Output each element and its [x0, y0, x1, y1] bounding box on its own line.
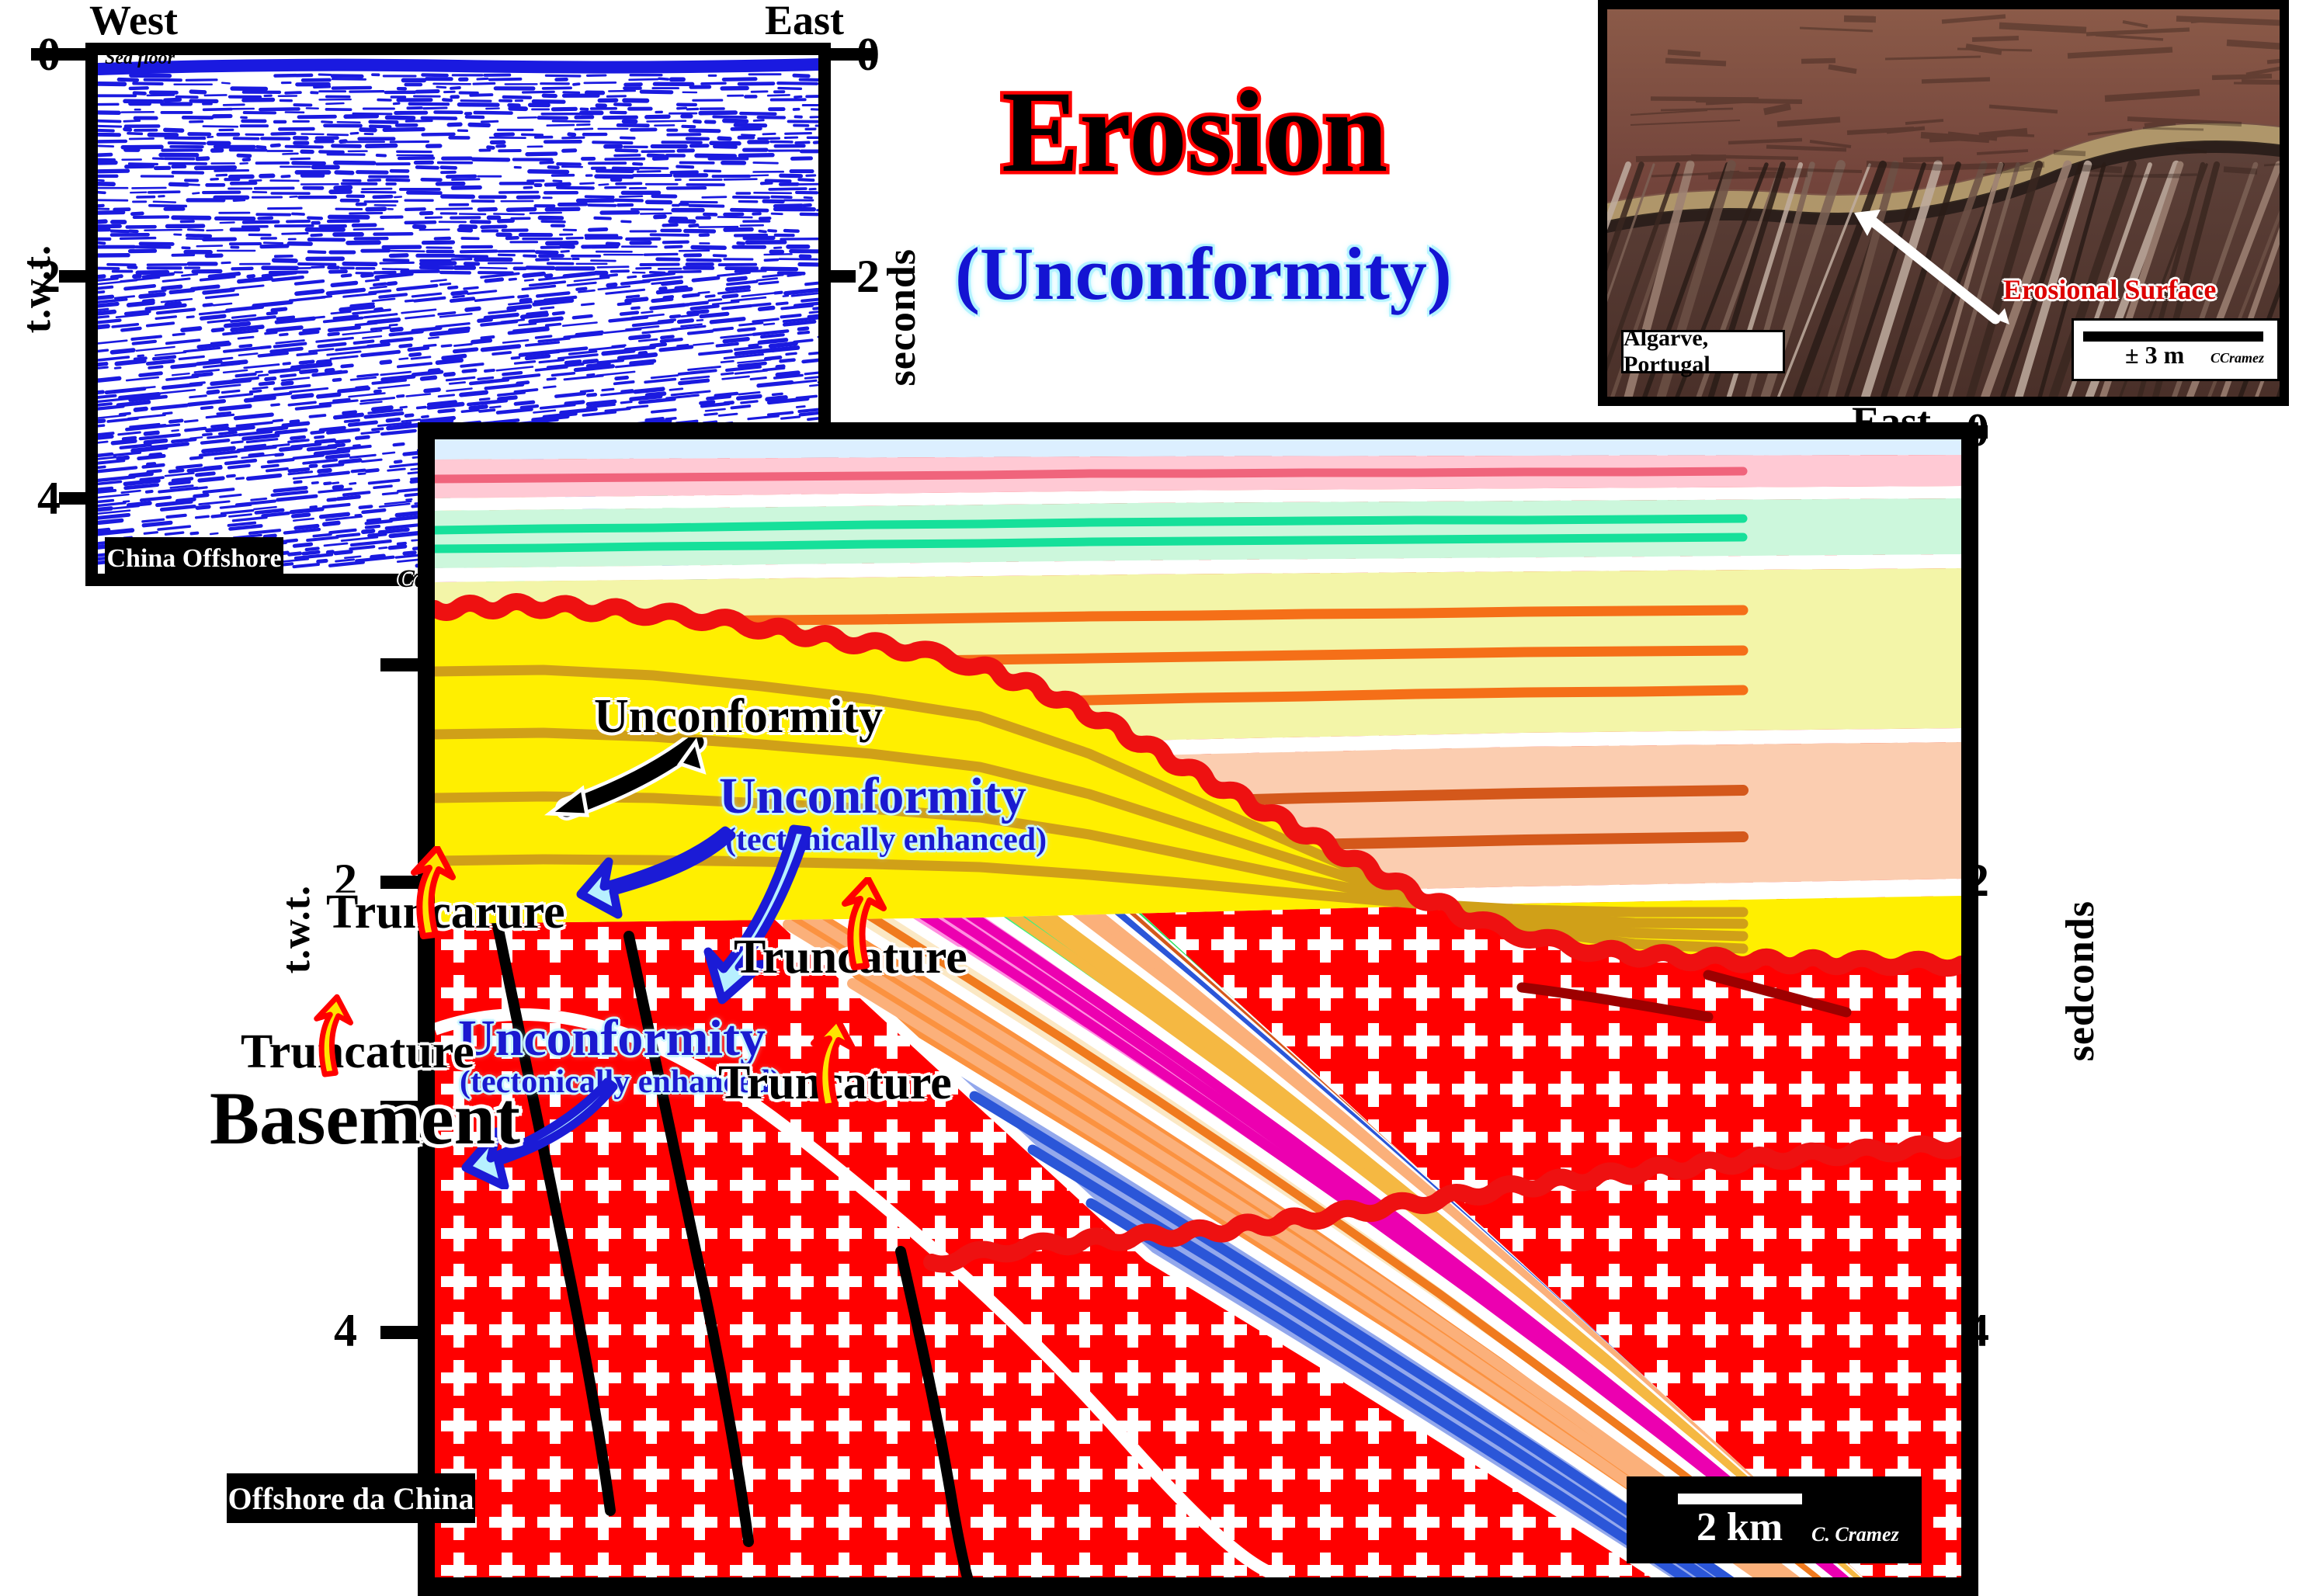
section-signature: C. Cramez: [1811, 1523, 1899, 1546]
section-frame-top: [418, 422, 1978, 439]
label-unconformity-top: Unconformity: [594, 689, 883, 744]
truncation-arrow-3: [304, 994, 359, 1079]
section-location-label: Offshore da China: [227, 1473, 475, 1523]
truncation-arrow-4: [800, 1017, 862, 1110]
photo-scale-bar-box: ± 3 m CCramez: [2072, 318, 2280, 381]
seismic-right-axis-title: seconds: [879, 248, 925, 386]
seismic-right-tick-2: 2: [856, 250, 880, 304]
section-frame-right: [1961, 422, 1978, 1596]
section-frame-bottom: [418, 1577, 1978, 1596]
section-frame-left: [418, 422, 435, 1596]
photo-inset-panel: Erosional Surface Algarve, Portugal ± 3 …: [1598, 0, 2289, 406]
cross-section-drawing: [435, 439, 1961, 1577]
label-unconformity-blue-1: Unconformity: [719, 767, 1026, 826]
label-basement: Basement: [210, 1075, 520, 1161]
truncation-arrow-1: [400, 846, 462, 939]
unconformity-top-arrow: [544, 737, 730, 823]
section-scale-bar: [1678, 1494, 1802, 1504]
section-scale-bar-box: 2 km C. Cramez: [1627, 1476, 1922, 1563]
photo-scale-label: ± 3 m: [2125, 341, 2184, 370]
section-right-axis-title: sedconds: [2058, 900, 2103, 1061]
page-title: Erosion: [1002, 74, 1387, 190]
page-subtitle: (Unconformity): [955, 237, 1452, 311]
truncation-arrow-2: [831, 877, 893, 970]
seismic-left-tick-4: 4: [37, 472, 61, 526]
seismic-direction-west: West: [89, 0, 178, 44]
photo-signature: CCramez: [2210, 350, 2264, 366]
section-scale-label: 2 km: [1697, 1504, 1783, 1550]
interpreted-section-panel: East t.w.t. sedconds 2 4 0 2 4: [256, 404, 2120, 1595]
sea-floor-label: Sea floor: [105, 48, 175, 69]
photo-location-label: Algarve, Portugal: [1621, 330, 1785, 373]
section-left-axis-title: t.w.t.: [273, 885, 319, 973]
seismic-direction-east: East: [765, 0, 844, 44]
erosional-surface-annotation: Erosional Surface: [2003, 273, 2216, 306]
seismic-left-tick-2: 2: [37, 250, 61, 304]
section-left-tick-4: 4: [334, 1304, 357, 1358]
